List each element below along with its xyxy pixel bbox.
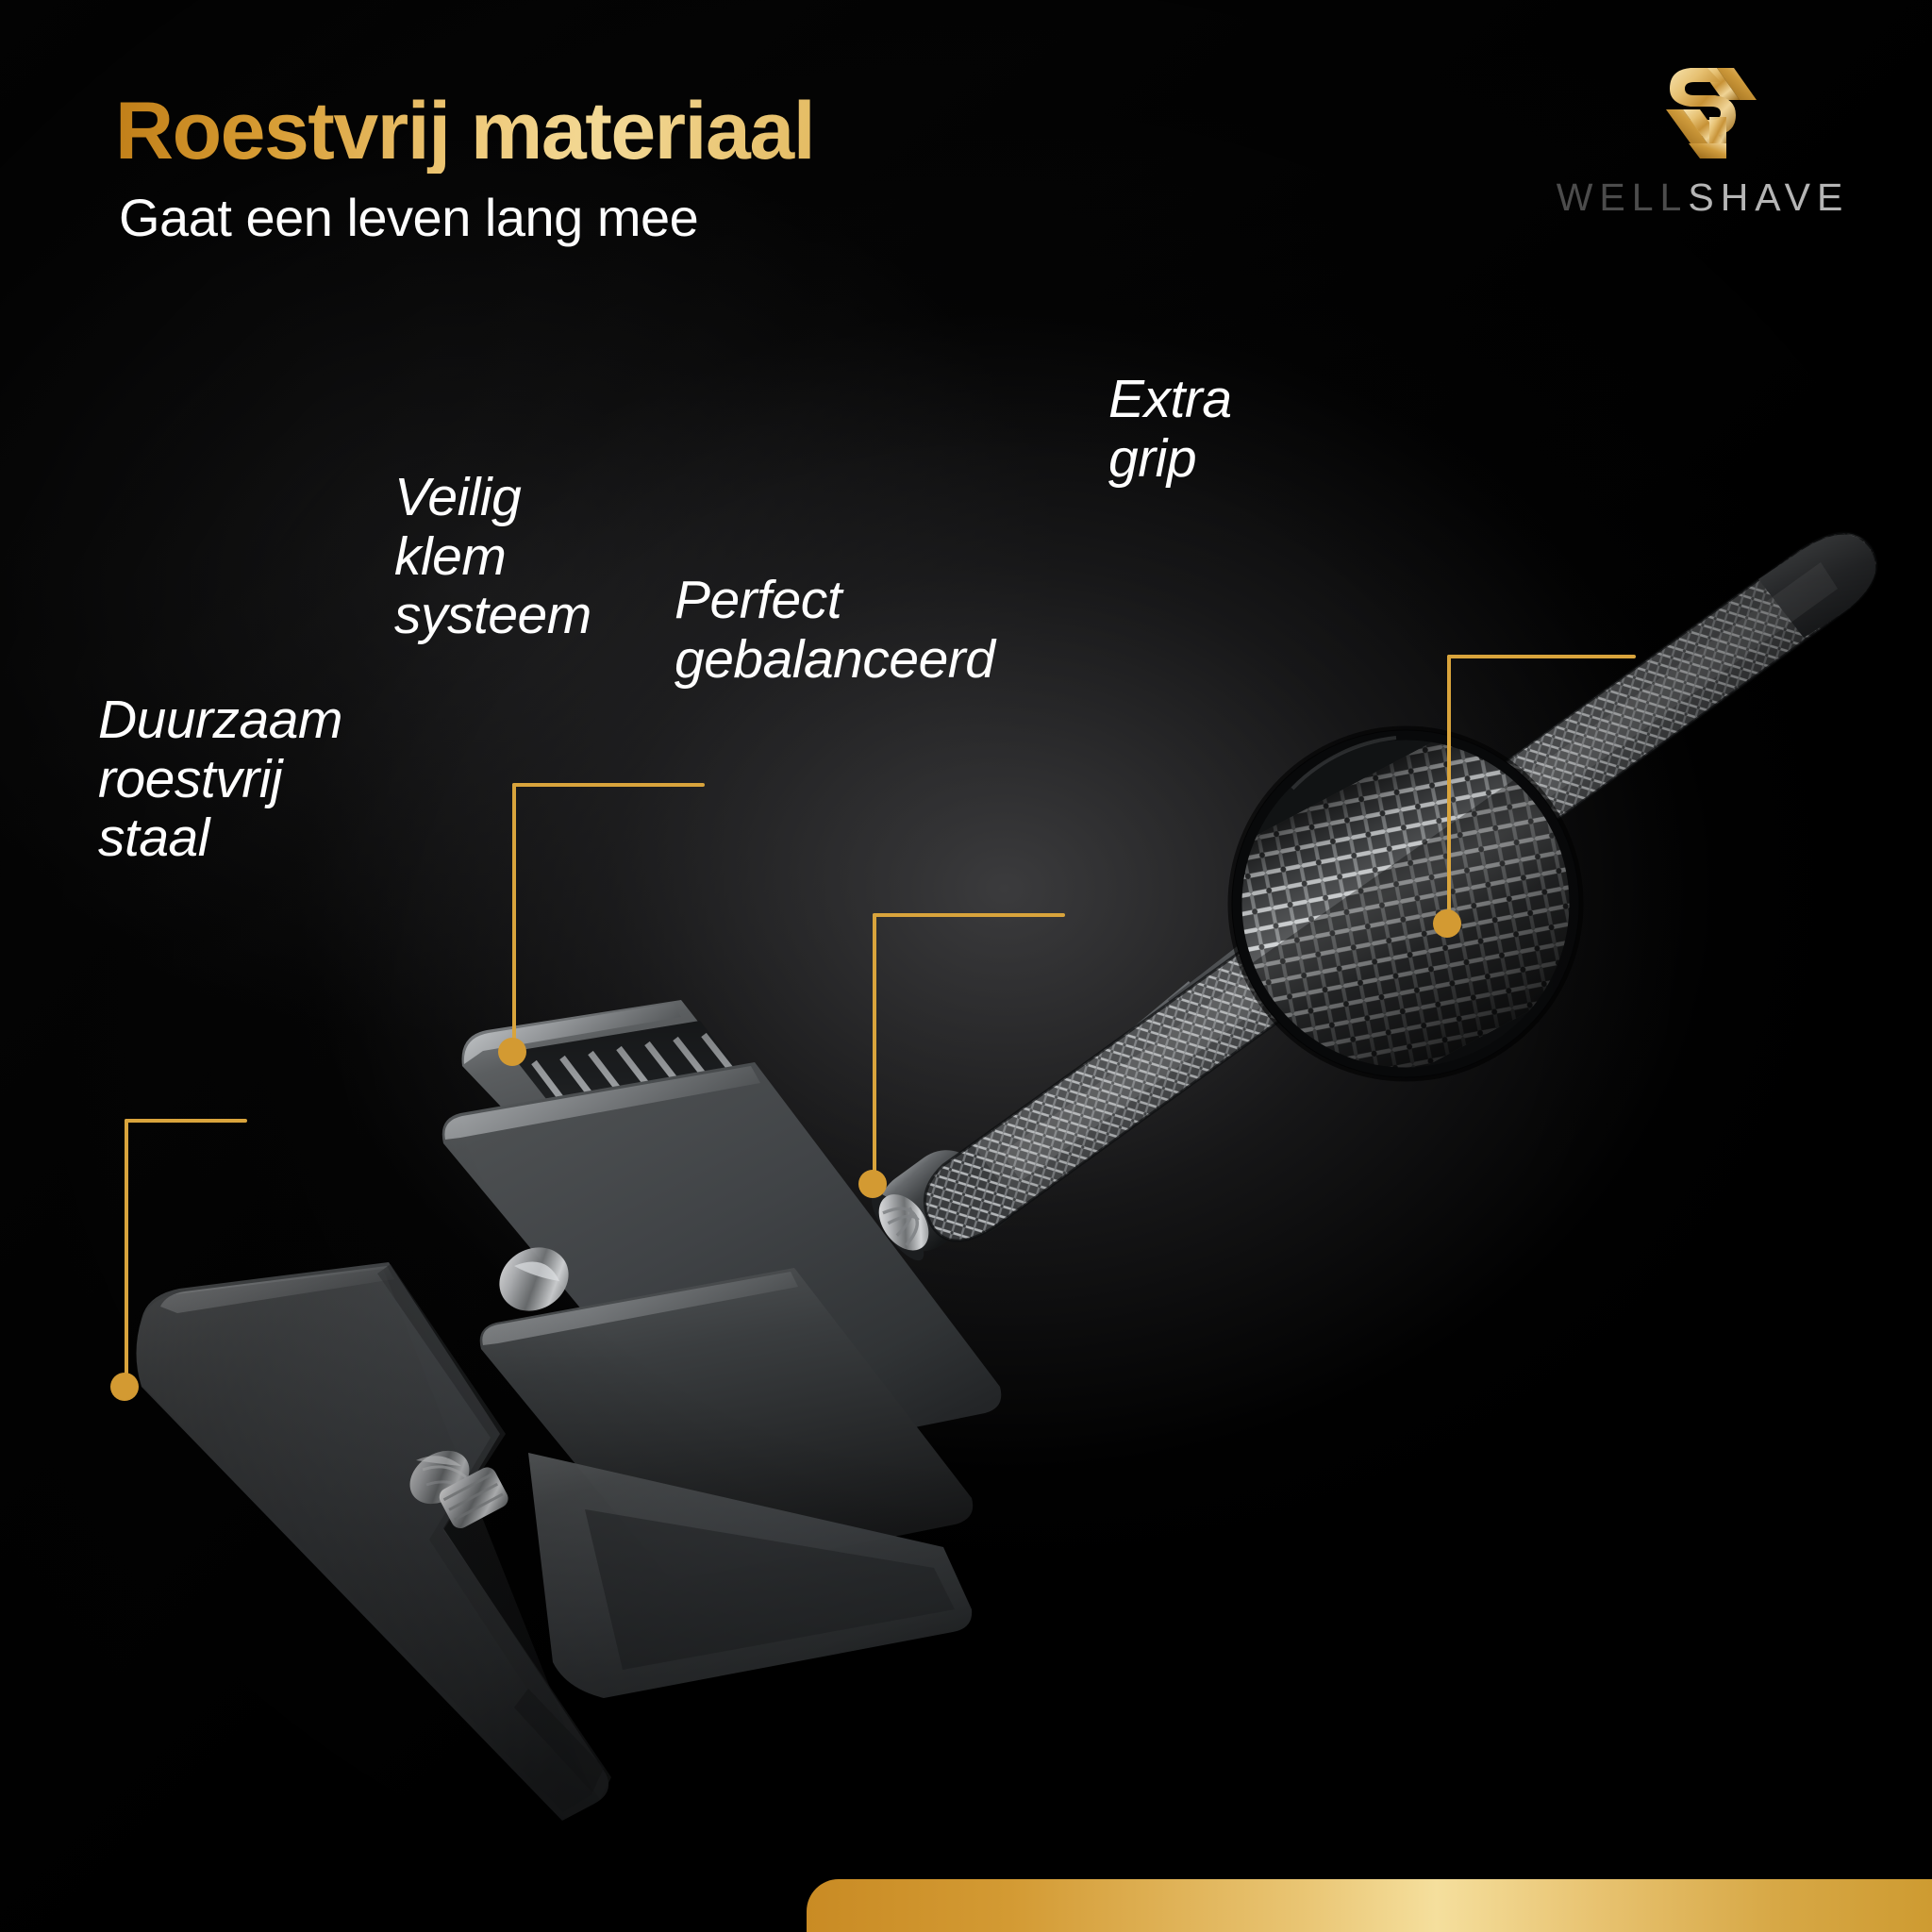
callout-dot-veilig-klem-systeem: [498, 1038, 526, 1066]
callout-connector-horizontal-extra-grip: [1447, 655, 1636, 658]
callout-connector-vertical-veilig-klem-systeem: [512, 783, 516, 1052]
header: Roestvrij materiaal Gaat een leven lang …: [0, 0, 1932, 283]
brand-wordmark: WELLSHAVE: [1557, 175, 1850, 220]
callout-dot-duurzaam-roestvrij-staal: [110, 1373, 139, 1401]
page-subtitle: Gaat een leven lang mee: [119, 187, 698, 248]
callout-label-extra-grip: Extra grip: [1108, 370, 1232, 488]
callout-label-perfect-gebalanceerd: Perfect gebalanceerd: [675, 571, 994, 689]
callout-connector-vertical-duurzaam-roestvrij-staal: [125, 1119, 128, 1387]
callout-connector-horizontal-veilig-klem-systeem: [512, 783, 705, 787]
wellshave-monogram-icon: [1641, 62, 1764, 168]
product-illustration: [0, 0, 1932, 1932]
callout-label-duurzaam-roestvrij-staal: Duurzaam roestvrij staal: [98, 691, 342, 868]
background-vignette: [0, 0, 1932, 1932]
callout-connector-vertical-perfect-gebalanceerd: [873, 913, 876, 1185]
callout-connector-horizontal-perfect-gebalanceerd: [873, 913, 1065, 917]
infographic-canvas: Roestvrij materiaal Gaat een leven lang …: [0, 0, 1932, 1932]
callout-dot-perfect-gebalanceerd: [858, 1170, 887, 1198]
brand-logo: WELLSHAVE: [1547, 62, 1858, 223]
callout-connector-vertical-extra-grip: [1447, 655, 1451, 924]
bottom-accent-bar: [807, 1879, 1932, 1932]
background-sheen: [0, 0, 1932, 1932]
page-title: Roestvrij materiaal: [115, 91, 814, 174]
callout-connector-horizontal-duurzaam-roestvrij-staal: [125, 1119, 247, 1123]
razor-base-plate: [136, 1262, 611, 1821]
razor-comb-head: [436, 1000, 1001, 1698]
callout-label-veilig-klem-systeem: Veilig klem systeem: [394, 468, 591, 645]
brand-word-well: WELL: [1557, 175, 1689, 219]
brand-word-shave: SHAVE: [1688, 175, 1849, 219]
callout-dot-extra-grip: [1433, 909, 1461, 938]
grip-magnifier: [1161, 682, 1677, 1136]
razor-knurled-handle: [781, 282, 1932, 1491]
